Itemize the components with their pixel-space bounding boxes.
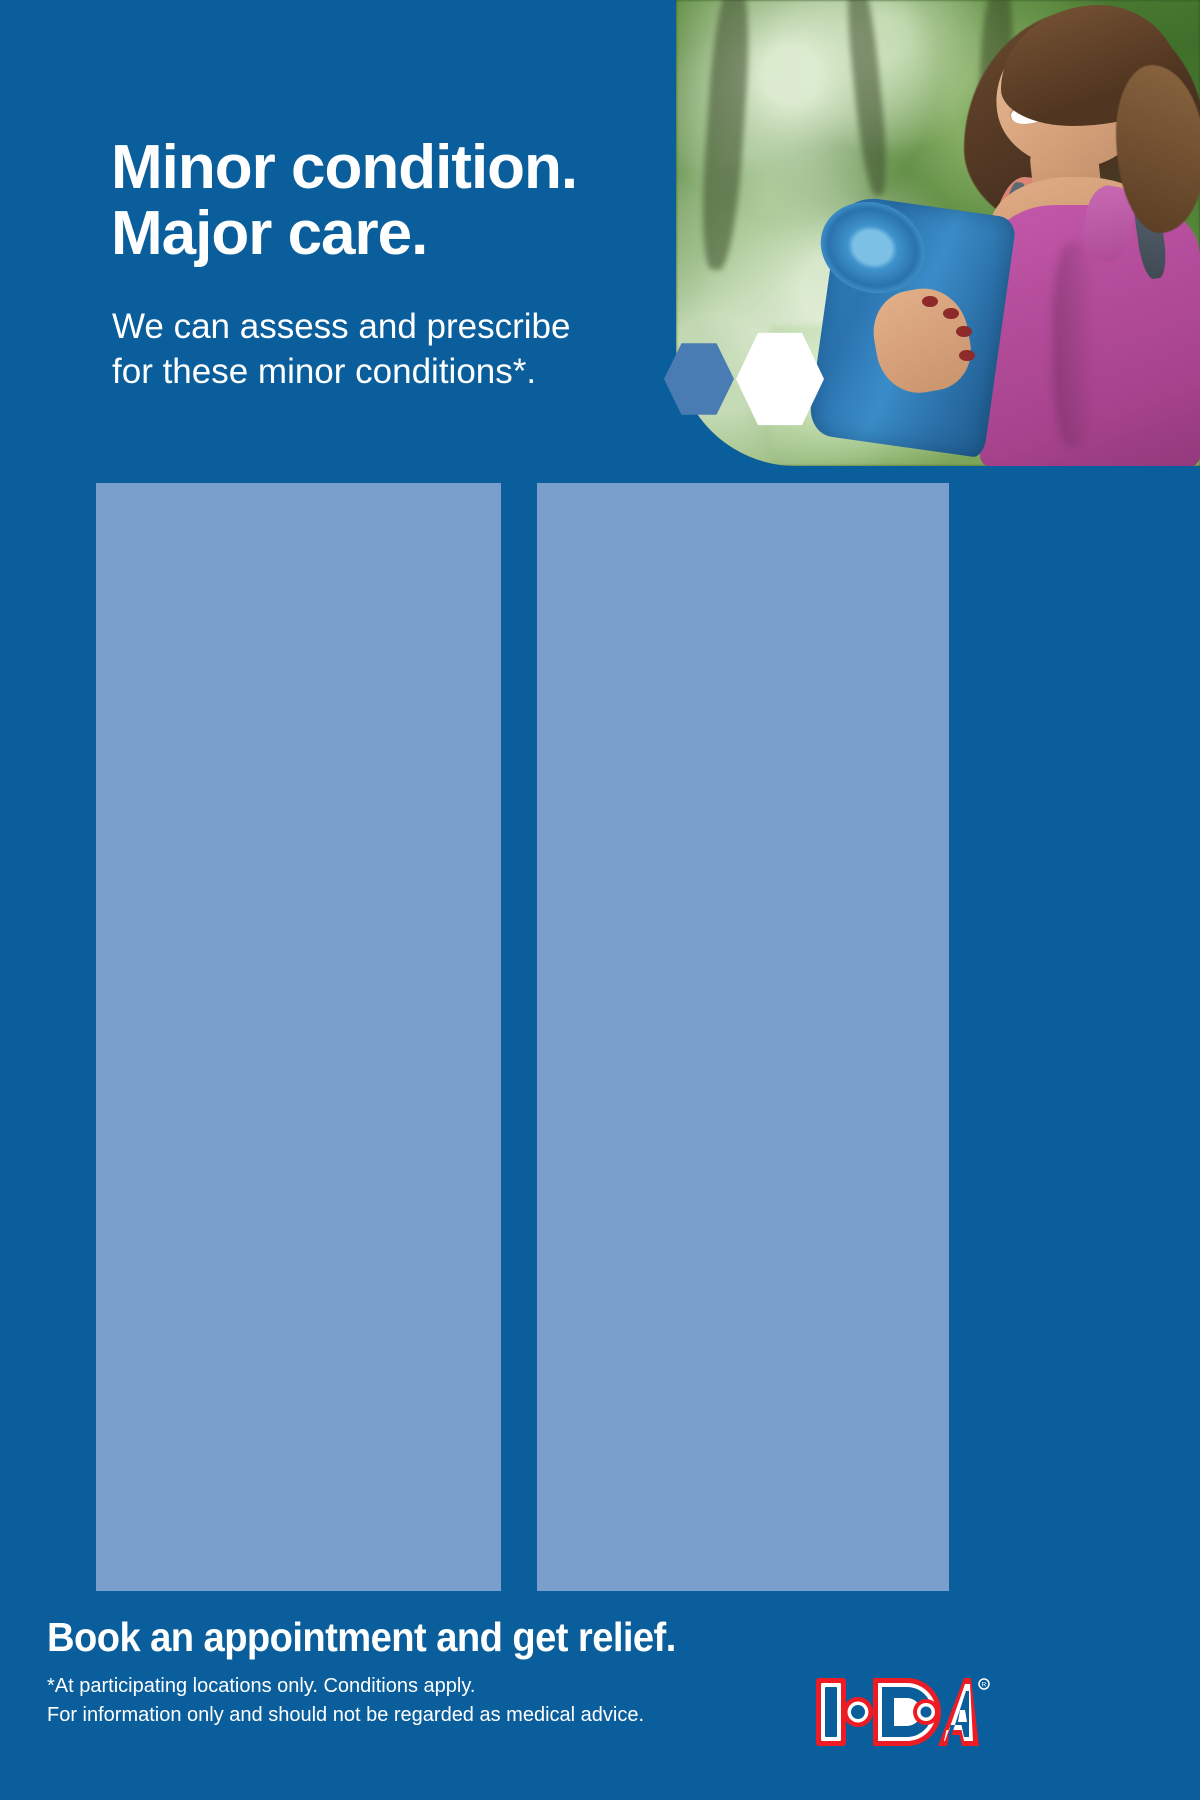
- page-title: Minor condition. Major care.: [111, 135, 577, 268]
- cta-headline: Book an appointment and get relief.: [47, 1617, 676, 1658]
- right-content-panel: [537, 483, 949, 1591]
- fingernail: [922, 296, 938, 307]
- ida-logo-mark: R: [814, 1675, 990, 1753]
- left-content-panel: [96, 483, 501, 1591]
- ida-logo: R: [814, 1675, 990, 1753]
- poster-canvas: Minor condition. Major care. We can asse…: [0, 0, 1200, 1800]
- page-subtitle: We can assess and prescribe for these mi…: [112, 305, 570, 395]
- fingernail: [959, 350, 975, 361]
- legal-fineprint: *At participating locations only. Condit…: [47, 1672, 644, 1730]
- svg-text:R: R: [982, 1682, 987, 1689]
- fingernail: [943, 308, 959, 319]
- tank-shadow: [1053, 242, 1095, 447]
